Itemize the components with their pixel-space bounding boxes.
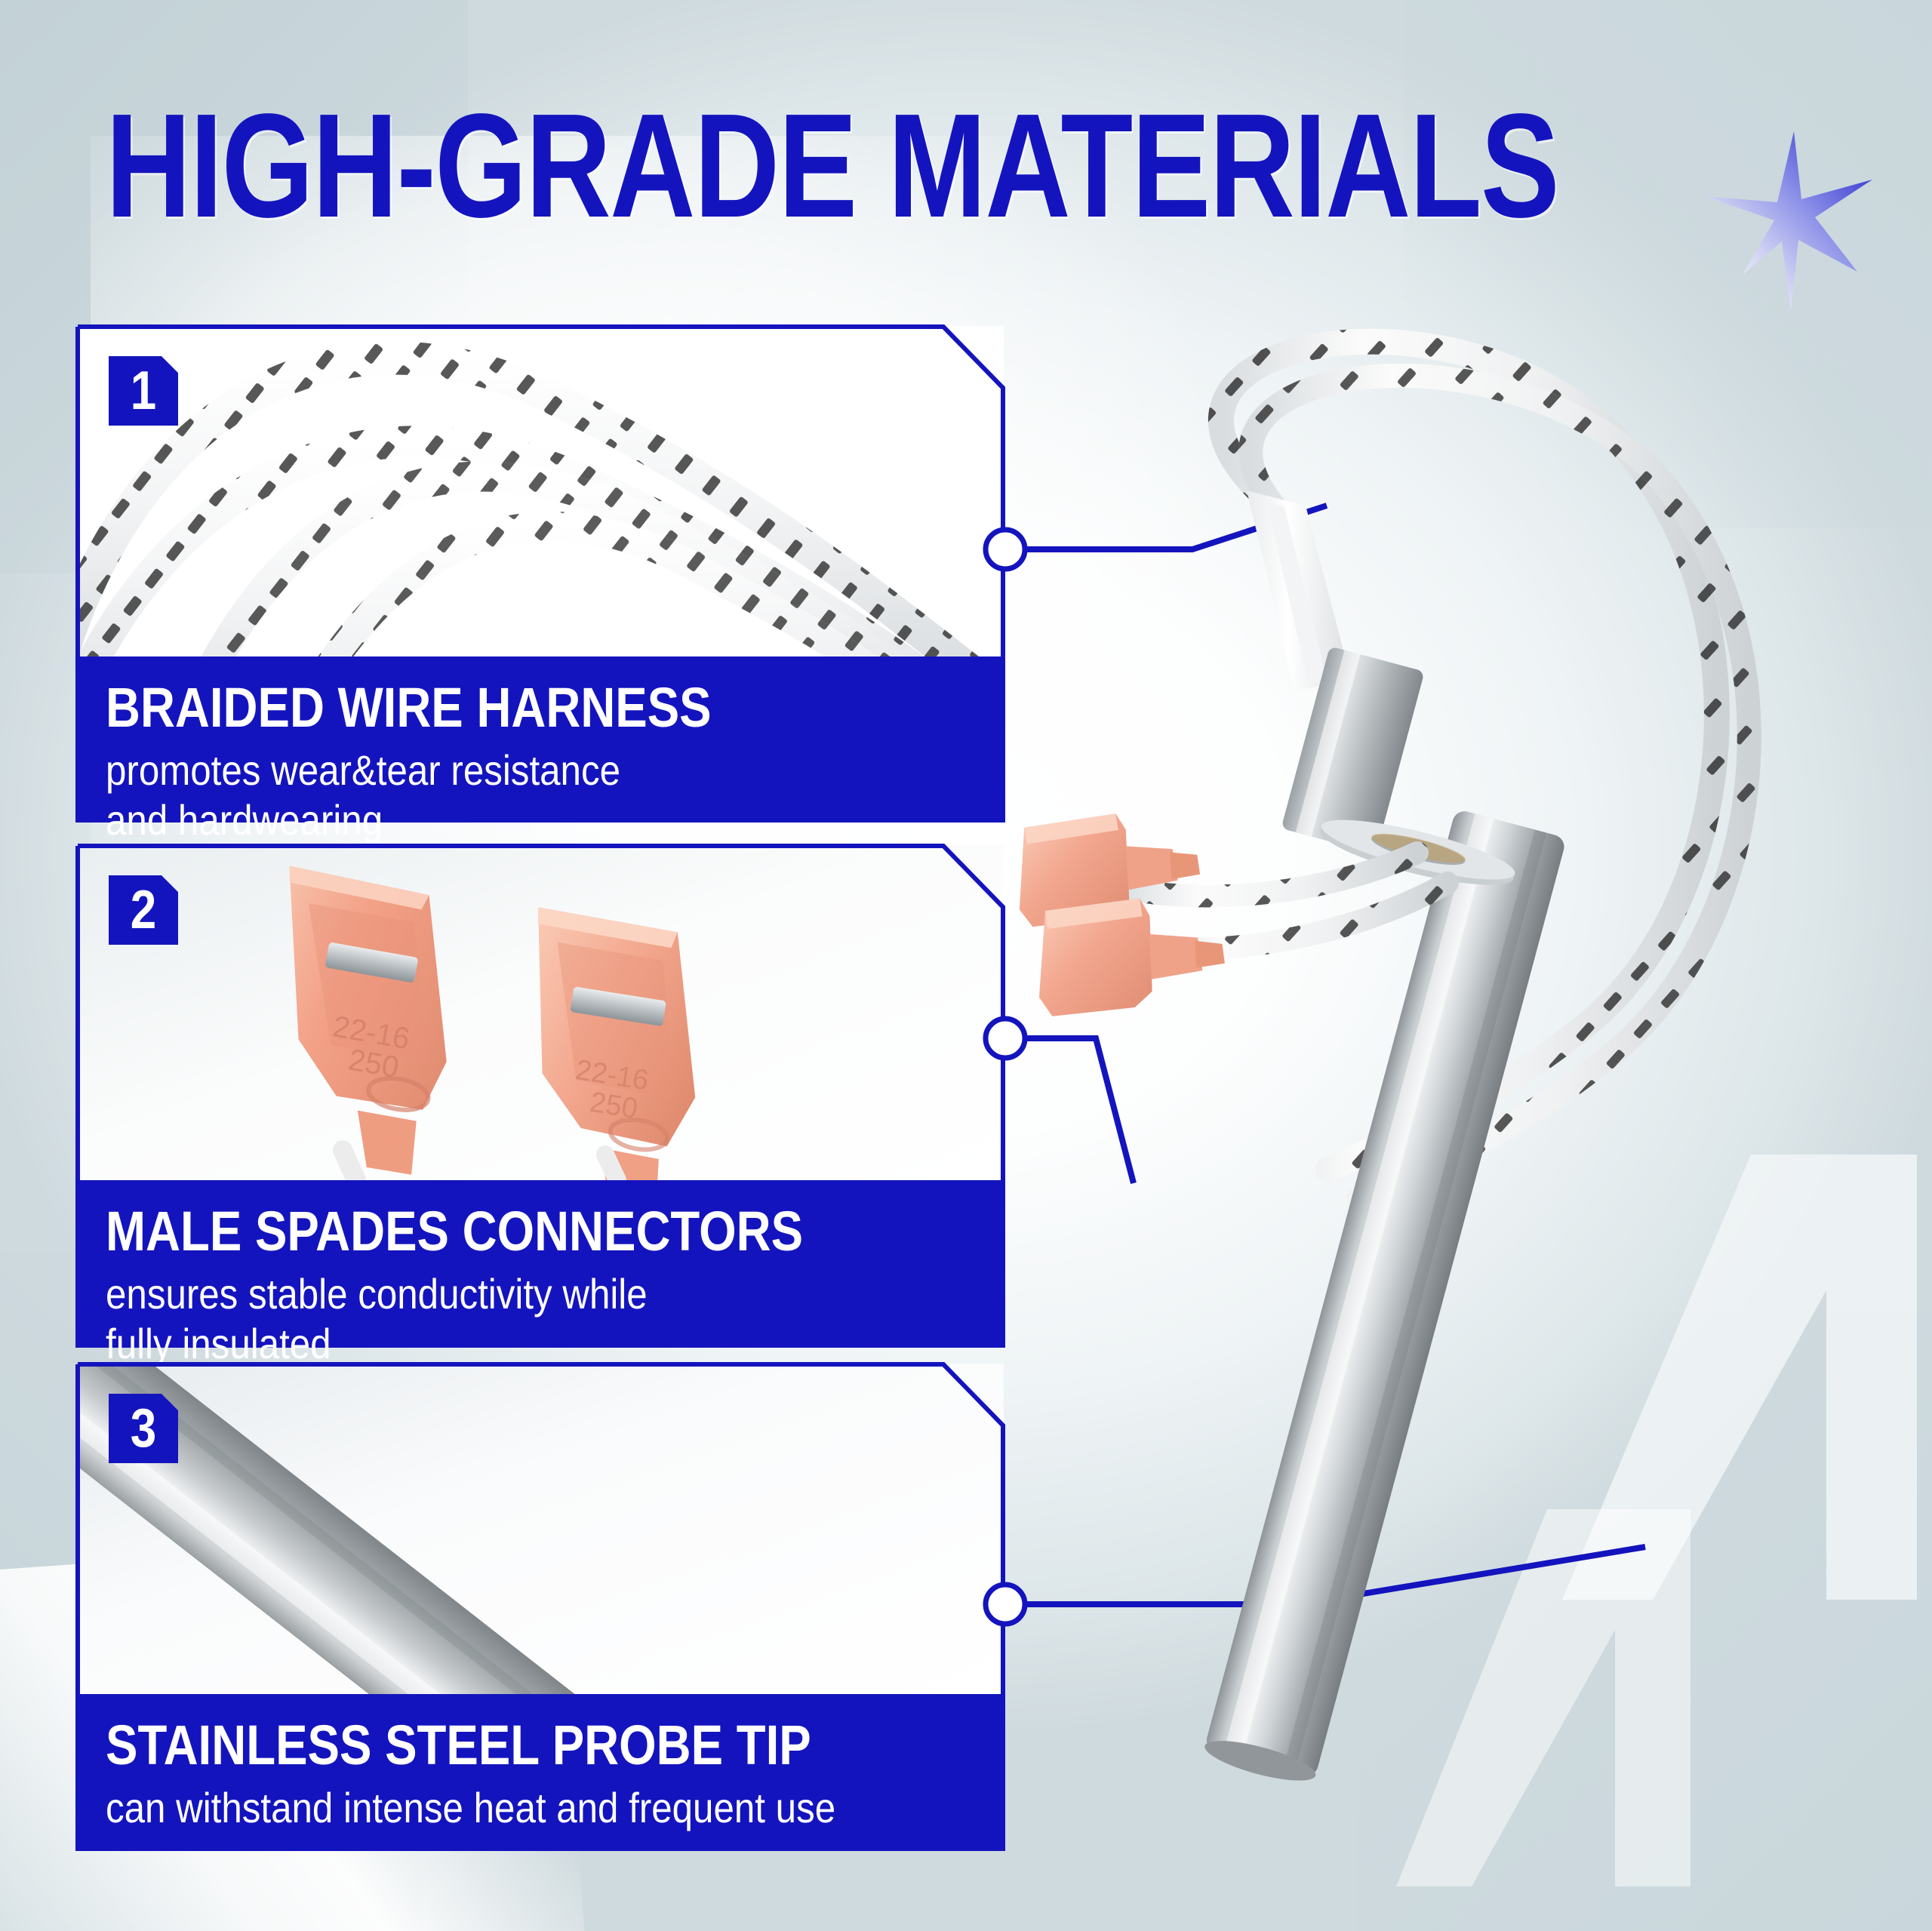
card-2-title: MALE SPADES CONNECTORS	[106, 1200, 854, 1263]
four-point-star-icon	[1702, 127, 1875, 315]
card-1-number-badge: 1	[109, 356, 178, 426]
stainless-steel-probe-tip-photo	[77, 1364, 1004, 1694]
card-3-number-badge: 3	[109, 1394, 178, 1463]
card-1-desc-line-1: promotes wear&tear resistance	[106, 746, 871, 795]
product-image	[1004, 324, 1932, 1826]
card-3-caption: STAINLESS STEEL PROBE TIP can withstand …	[75, 1694, 1005, 1851]
feature-card-2[interactable]: 22-16 250 22-16 250	[75, 844, 1005, 1348]
card-1-photo	[77, 326, 1004, 656]
card-2-description: ensures stable conductivity while fully …	[106, 1269, 871, 1369]
card-2-number-badge: 2	[109, 875, 178, 945]
card-3-title: STAINLESS STEEL PROBE TIP	[106, 1714, 854, 1777]
feature-card-1[interactable]: 1 BRAIDED WIRE HARNESS promotes wear&tea…	[75, 324, 1005, 823]
card-2-photo: 22-16 250 22-16 250	[77, 845, 1004, 1180]
male-spade-connectors-photo: 22-16 250 22-16 250	[77, 845, 1004, 1180]
header: HIGH-GRADE MATERIALS	[0, 91, 1932, 257]
card-1-description: promotes wear&tear resistance and hardwe…	[106, 746, 871, 845]
braided-wire-harness-photo	[77, 326, 1004, 656]
card-3-description: can withstand intense heat and frequent …	[106, 1783, 871, 1833]
card-3-desc-line-1: can withstand intense heat and frequent …	[106, 1783, 871, 1833]
card-3-photo	[77, 1364, 1004, 1694]
card-1-caption: BRAIDED WIRE HARNESS promotes wear&tear …	[75, 656, 1005, 823]
card-1-desc-line-2: and hardwearing	[106, 795, 871, 845]
card-2-caption: MALE SPADES CONNECTORS ensures stable co…	[75, 1180, 1005, 1348]
feature-card-3[interactable]: 3 STAINLESS STEEL PROBE TIP can withstan…	[75, 1362, 1005, 1851]
page-title: HIGH-GRADE MATERIALS	[106, 91, 1558, 241]
card-1-title: BRAIDED WIRE HARNESS	[106, 676, 854, 739]
card-2-desc-line-1: ensures stable conductivity while	[106, 1269, 871, 1319]
infographic-canvas: HIGH-GRADE MATERIALS	[0, 0, 1932, 1931]
